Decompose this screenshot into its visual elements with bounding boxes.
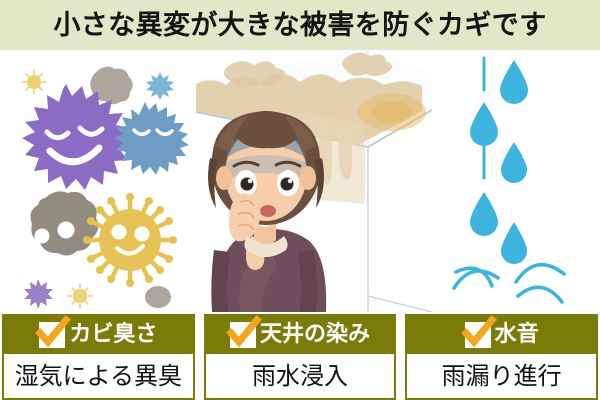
water-drop-panel — [432, 50, 600, 312]
infographic-root: 小さな異変が大きな被害を防ぐカギです — [0, 0, 600, 400]
yellow-dot-germ-icon-2 — [68, 284, 92, 308]
symptom-card-row: カビ臭さ 湿気による異臭 天井の染み 雨水浸入 — [0, 314, 600, 400]
card-body-mold-smell: 湿気による異臭 — [4, 354, 193, 398]
card-title-mold-smell: カビ臭さ — [69, 324, 157, 346]
gray-blob-small-icon-2 — [145, 286, 171, 308]
card-title-ceiling-stain: 天井の染み — [260, 324, 370, 346]
yellow-dot-germ-icon — [22, 70, 46, 94]
card-desc-mold-smell: 湿気による異臭 — [15, 364, 182, 388]
mold-germ-panel — [0, 50, 196, 312]
card-desc-ceiling-stain: 雨水浸入 — [252, 364, 348, 388]
symptom-card-mold-smell[interactable]: カビ臭さ 湿気による異臭 — [2, 314, 195, 400]
checkbox-checked-icon[interactable] — [465, 322, 491, 348]
worried-person-illustration — [196, 50, 432, 312]
symptom-card-ceiling-stain[interactable]: 天井の染み 雨水浸入 — [204, 314, 397, 400]
ceiling-stain-panel — [196, 50, 432, 312]
mold-germ-illustration — [0, 50, 196, 312]
page-title: 小さな異変が大きな被害を防ぐカギです — [53, 12, 546, 39]
card-body-ceiling-stain: 雨水浸入 — [206, 354, 395, 398]
card-header-ceiling-stain: 天井の染み — [206, 316, 395, 354]
card-title-water-sound: 水音 — [495, 324, 539, 346]
card-body-water-sound: 雨漏り進行 — [407, 354, 596, 398]
title-band: 小さな異変が大きな被害を防ぐカギです — [0, 0, 600, 50]
card-header-mold-smell: カビ臭さ — [4, 316, 193, 354]
checkbox-checked-icon[interactable] — [230, 322, 256, 348]
symptom-card-water-sound[interactable]: 水音 雨漏り進行 — [405, 314, 598, 400]
checkbox-checked-icon[interactable] — [39, 322, 65, 348]
card-header-water-sound: 水音 — [407, 316, 596, 354]
illustration-row — [0, 50, 600, 312]
card-desc-water-sound: 雨漏り進行 — [442, 364, 562, 388]
falling-water-drops-illustration — [432, 50, 600, 312]
